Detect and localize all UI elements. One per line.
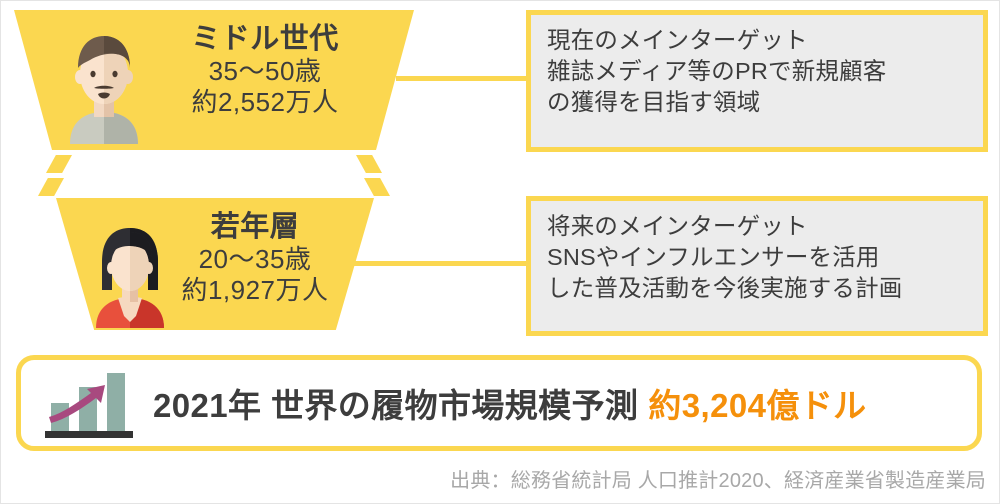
connector-line-young bbox=[352, 261, 530, 266]
funnel-stage-middle-text: ミドル世代 35〜50歳 約2,552万人 bbox=[150, 22, 380, 118]
funnel-gap-right-lower bbox=[364, 178, 390, 196]
callout-young-line-2: SNSやインフルエンサーを活用 bbox=[547, 242, 969, 273]
market-forecast-value: 約3,204億ドル bbox=[648, 387, 866, 424]
callout-box-middle: 現在のメインターゲット 雑誌メディア等のPRで新規顧客 の獲得を目指す領域 bbox=[526, 10, 988, 152]
stage-title-middle: ミドル世代 bbox=[150, 22, 380, 56]
funnel-stage-young-text: 若年層 20〜35歳 約1,927万人 bbox=[150, 210, 360, 306]
male-avatar-icon bbox=[58, 22, 150, 144]
callout-young-line-1: 将来のメインターゲット bbox=[547, 211, 969, 242]
callout-young-line-3: した普及活動を今後実施する計画 bbox=[547, 273, 969, 304]
source-attribution: 出典：総務省統計局 人口推計2020、経済産業省製造産業局 bbox=[450, 464, 986, 493]
infographic-page: ミドル世代 35〜50歳 約2,552万人 bbox=[0, 0, 1000, 504]
callout-box-young: 将来のメインターゲット SNSやインフルエンサーを活用 した普及活動を今後実施す… bbox=[526, 196, 988, 336]
market-forecast-text: 2021年 世界の履物市場規模予測約3,204億ドル bbox=[153, 379, 867, 427]
connector-line-middle bbox=[396, 76, 530, 81]
stage-title-young: 若年層 bbox=[150, 210, 360, 244]
market-forecast-label: 2021年 世界の履物市場規模予測 bbox=[153, 387, 638, 424]
stage-age-young: 20〜35歳 bbox=[150, 244, 360, 275]
market-forecast-bar: 2021年 世界の履物市場規模予測約3,204億ドル bbox=[16, 355, 982, 451]
callout-middle-line-1: 現在のメインターゲット bbox=[547, 25, 969, 56]
stage-age-middle: 35〜50歳 bbox=[150, 56, 380, 87]
callout-middle-line-3: の獲得を目指す領域 bbox=[547, 87, 969, 118]
funnel-gap-left-upper bbox=[46, 155, 72, 173]
stage-population-young: 約1,927万人 bbox=[150, 275, 360, 306]
stage-population-middle: 約2,552万人 bbox=[150, 87, 380, 118]
funnel-gap-left-lower bbox=[38, 178, 64, 196]
funnel-gap-right-upper bbox=[356, 155, 382, 173]
callout-middle-line-2: 雑誌メディア等のPRで新規顧客 bbox=[547, 56, 969, 87]
bar-chart-growth-icon bbox=[37, 367, 141, 439]
